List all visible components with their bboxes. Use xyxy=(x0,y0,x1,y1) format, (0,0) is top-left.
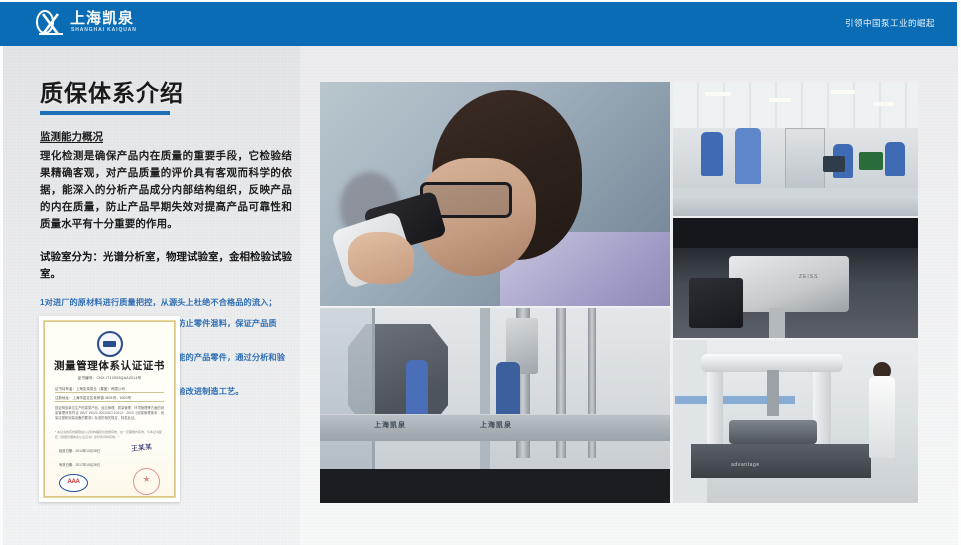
aaa-badge-label: AAA xyxy=(60,479,87,485)
slide-root: 上海凯泉 SHANGHAI KAIQUAN 引领中国泵工业的崛起 质保体系介绍 … xyxy=(0,0,961,545)
page-header: 上海凯泉 SHANGHAI KAIQUAN 引领中国泵工业的崛起 xyxy=(0,2,957,46)
lab-worker xyxy=(496,362,520,418)
microscope-stand xyxy=(769,308,785,338)
lab-worker xyxy=(885,142,905,176)
certificate-emblem-icon xyxy=(97,331,123,357)
computer-monitor xyxy=(859,152,883,170)
kaiquan-logo-icon xyxy=(36,10,66,38)
page-title: 质保体系介绍 xyxy=(40,78,292,108)
floor-shadow xyxy=(320,469,670,503)
photo-zeiss-microscope: ZEISS xyxy=(673,218,918,338)
title-underline xyxy=(40,111,170,115)
header-slogan: 引领中国泵工业的崛起 xyxy=(845,17,935,29)
section-subheading: 监测能力概况 xyxy=(40,129,292,145)
list-item: 1对进厂的原材料进行质量把控，从源头上杜绝不合格品的流入； xyxy=(40,296,292,309)
logo-text-en: SHANGHAI KAIQUAN xyxy=(71,27,137,33)
section-paragraph: 理化检测是确保产品内在质量的重要手段，它检验结果精确客观，对产品质量的评价具有客… xyxy=(40,148,292,233)
cmm-probe xyxy=(767,370,779,416)
granite-table xyxy=(691,444,871,478)
lab-worker xyxy=(701,132,723,176)
certificate-title: 测量管理体系认证证书 xyxy=(45,358,174,373)
microscope-housing xyxy=(729,256,849,312)
photo-material-testing-machine: 上海凯泉 上海凯泉 xyxy=(320,308,670,503)
beam-brand-label: 上海凯泉 xyxy=(480,420,512,430)
dark-overhead-bar xyxy=(673,218,918,248)
certificate-issue-date: 批准日期：2014年10月28日 xyxy=(59,448,100,453)
ceiling-light xyxy=(769,98,791,102)
technician-body xyxy=(869,376,895,458)
certificate-signature: 王某某 xyxy=(131,442,153,454)
person-hand xyxy=(348,232,414,284)
camera-module xyxy=(689,278,743,328)
ceiling-light xyxy=(831,90,855,94)
floor-surface xyxy=(673,196,918,216)
ceiling-light xyxy=(873,102,893,106)
photo-laboratory-room xyxy=(673,82,918,216)
lab-bench xyxy=(673,188,918,196)
certificate-body: 测量管理体系认证证书 证书编号：CNX-IT12005QAA2014号 证书持有… xyxy=(44,321,175,497)
certificate-address: 注册地址：上海市嘉定区朱桥镇 4601号、6303号 xyxy=(55,395,164,402)
storage-cabinet xyxy=(785,128,825,196)
photo-microscope-operator xyxy=(320,82,670,306)
certificate-paragraph: 兹证明该单位生产的泵类产品，经过管理、质量管理、环境管理等方面的测量管理体系符合… xyxy=(55,406,164,422)
laboratory-types-line: 试验室分为：光谱分析室，物理试验室，金相检验试验室。 xyxy=(40,249,292,283)
certificate-issuer: 中国计量认证认证印章 xyxy=(45,494,174,497)
photo-coordinate-measuring-machine: advantage xyxy=(673,340,918,503)
lab-worker xyxy=(735,128,761,184)
certificate-number: 证书编号：CNX-IT12005QAA2014号 xyxy=(45,376,174,381)
ceiling-light xyxy=(705,92,731,96)
certificate-note: * 本证书的有效期限由认证机构确定并监督有效，在一定期限内有效，与本证书配套《测… xyxy=(55,430,164,439)
logo-text-cn: 上海凯泉 xyxy=(70,11,134,27)
computer-monitor xyxy=(823,156,845,172)
red-seal-stamp-icon xyxy=(133,468,160,495)
certificate-expiry-date: 有效日期：2017年10月28日 xyxy=(59,462,100,467)
zeiss-brand-label: ZEISS xyxy=(799,274,818,280)
aaa-badge-icon: AAA xyxy=(59,474,88,492)
brand-logo[interactable]: 上海凯泉 SHANGHAI KAIQUAN xyxy=(36,9,156,39)
beam-brand-label: 上海凯泉 xyxy=(374,420,406,430)
certificate-holder: 证书持有者：上海凯泉泵业（集团）有限公司 xyxy=(55,386,164,393)
cmm-brand-label: advantage xyxy=(731,462,760,468)
measured-pump-shaft xyxy=(729,420,817,444)
certificate-image: 测量管理体系认证证书 证书编号：CNX-IT12005QAA2014号 证书持有… xyxy=(39,316,180,502)
